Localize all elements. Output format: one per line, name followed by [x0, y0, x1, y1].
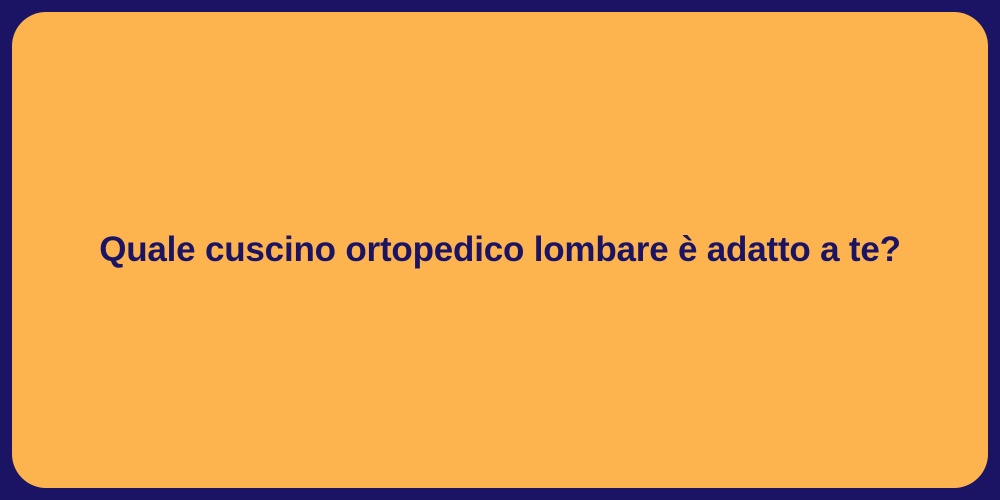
page-background: Quale cuscino ortopedico lombare è adatt…	[0, 0, 1000, 500]
content-card: Quale cuscino ortopedico lombare è adatt…	[12, 12, 988, 488]
page-title: Quale cuscino ortopedico lombare è adatt…	[59, 228, 941, 272]
